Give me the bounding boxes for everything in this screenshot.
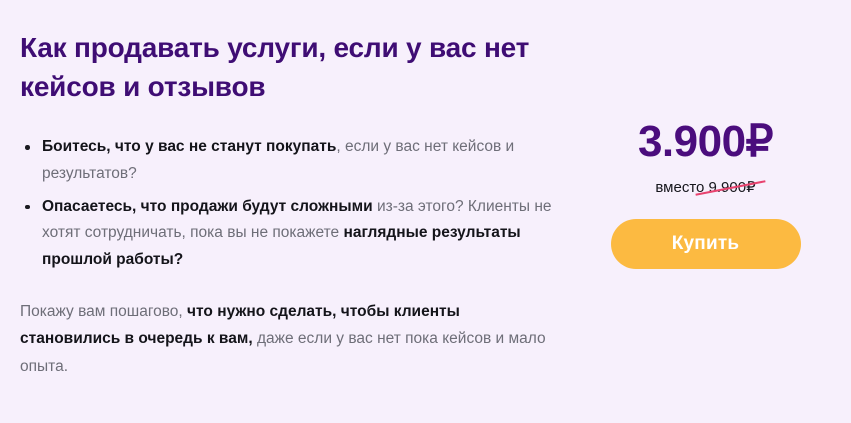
list-item: Боитесь, что у вас не станут покупать, е… bbox=[20, 134, 560, 187]
pain-point-list: Боитесь, что у вас не станут покупать, е… bbox=[20, 134, 560, 273]
list-item-lead-bold: Опасаетесь, что продажи будут сложными bbox=[42, 198, 373, 215]
current-price: 3.900₽ bbox=[580, 120, 831, 164]
content-column: Как продавать услуги, если у вас нет кей… bbox=[20, 28, 560, 380]
list-item: Опасаетесь, что продажи будут сложными и… bbox=[20, 194, 560, 274]
summary-paragraph: Покажу вам пошагово, что нужно сделать, … bbox=[20, 298, 560, 381]
offer-column: 3.900₽ вместо 9.900₽ Купить bbox=[580, 120, 831, 269]
buy-button[interactable]: Купить bbox=[611, 219, 801, 269]
summary-lead: Покажу вам пошагово, bbox=[20, 303, 187, 320]
offer-card: Как продавать услуги, если у вас нет кей… bbox=[0, 0, 851, 423]
list-item-lead-bold: Боитесь, что у вас не станут покупать bbox=[42, 138, 336, 155]
old-price-row: вместо 9.900₽ bbox=[655, 178, 755, 196]
page-title: Как продавать услуги, если у вас нет кей… bbox=[20, 28, 560, 106]
old-price-label: вместо bbox=[655, 179, 704, 196]
old-price-value-wrap: 9.900₽ bbox=[709, 178, 756, 196]
old-price-value: 9.900₽ bbox=[709, 179, 756, 196]
